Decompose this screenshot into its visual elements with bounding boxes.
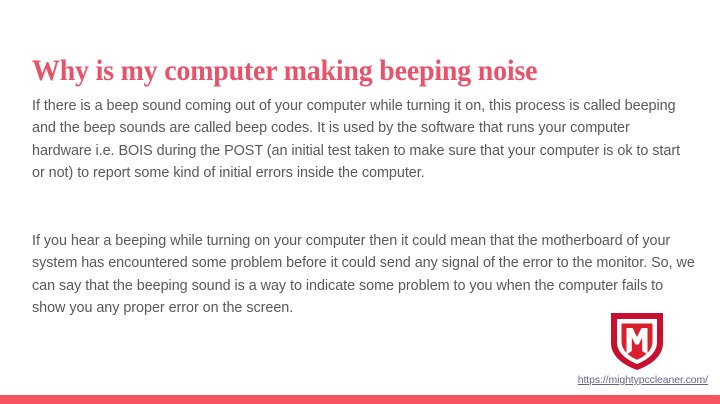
bottom-accent-bar <box>0 395 720 404</box>
shield-icon <box>608 310 666 372</box>
page-title: Why is my computer making beeping noise <box>32 54 627 88</box>
presentation-slide: Why is my computer making beeping noise … <box>0 0 720 404</box>
body-paragraph-1: If there is a beep sound coming out of y… <box>32 95 690 184</box>
brand-logo <box>608 310 666 372</box>
website-url-link[interactable]: https://mightypccleaner.com/ <box>0 374 708 387</box>
body-paragraph-2: If you hear a beeping while turning on y… <box>32 230 696 319</box>
